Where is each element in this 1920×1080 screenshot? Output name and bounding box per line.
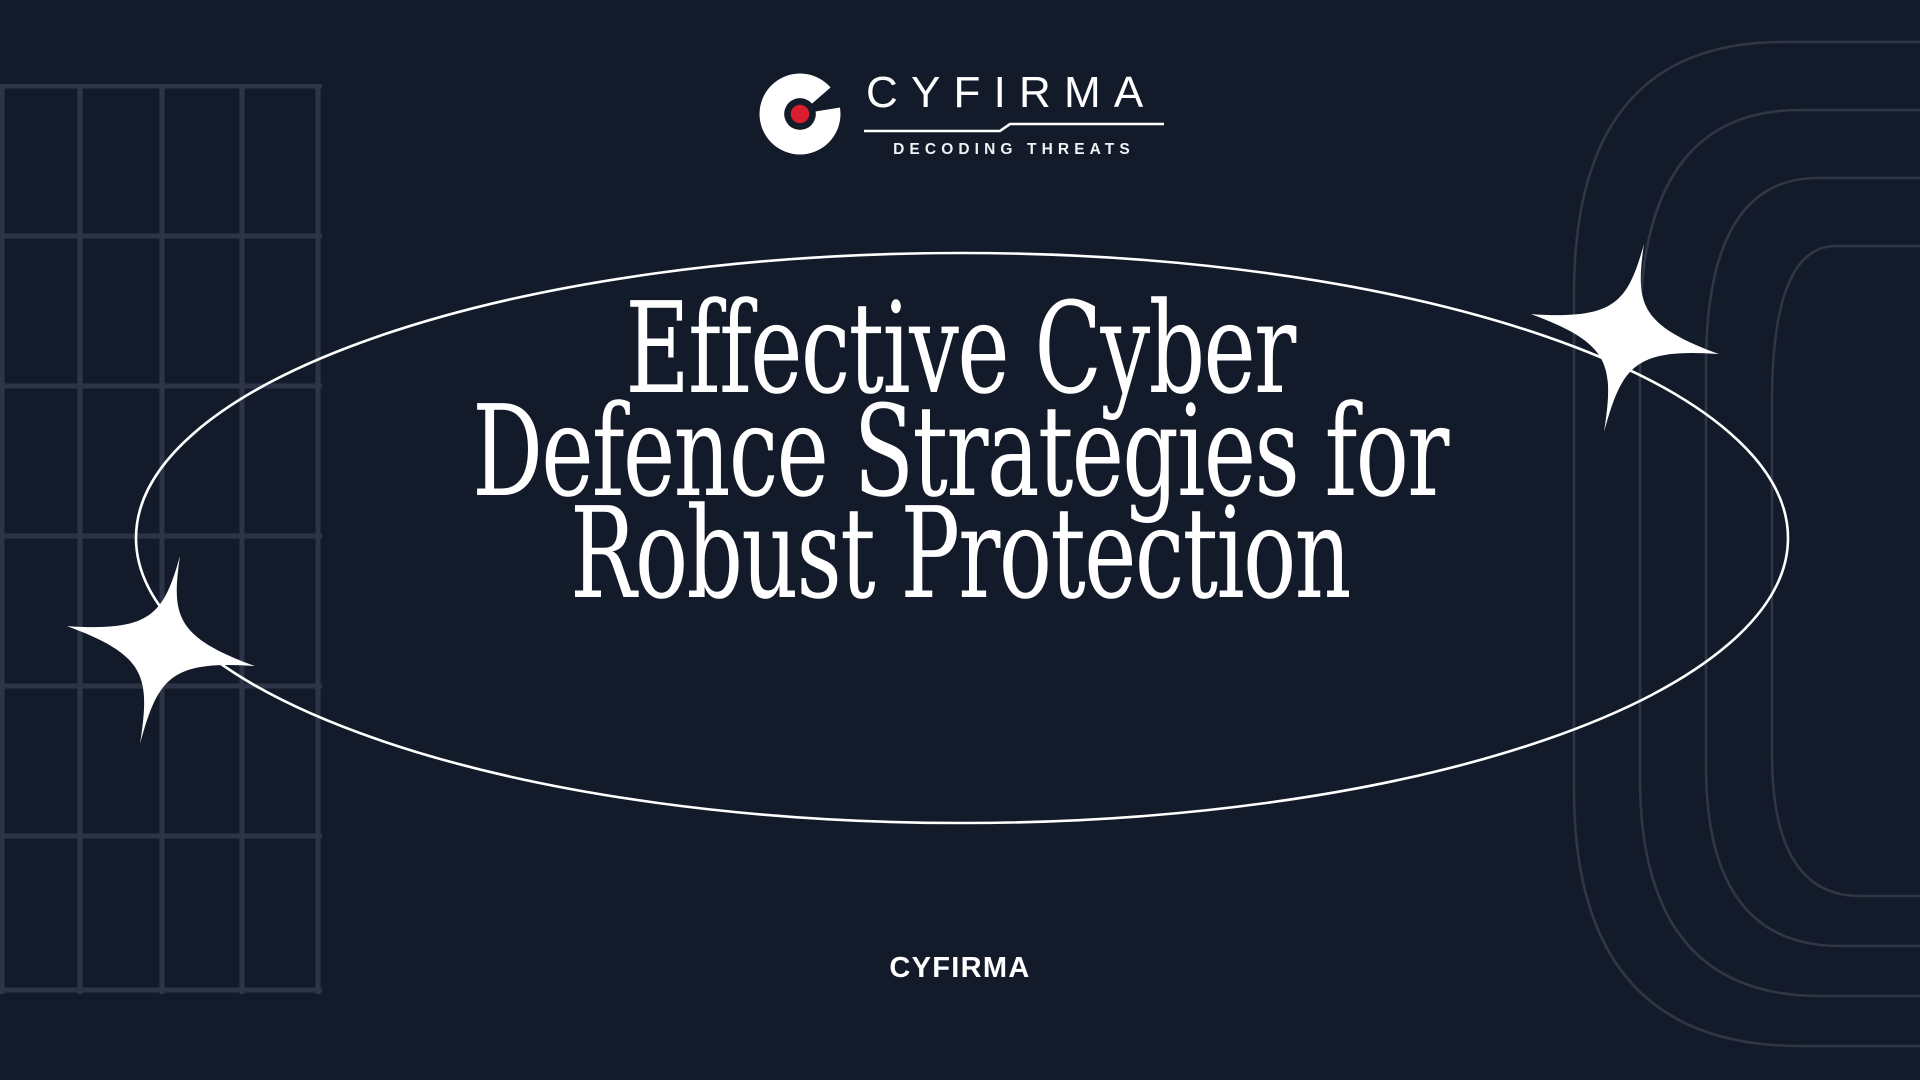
slide-canvas: CYFIRMA DECODING THREATS Effective Cyber… [0, 0, 1920, 1080]
footer-brand: CYFIRMA [0, 952, 1920, 985]
hero-section: Effective Cyber Defence Strategies for R… [0, 248, 1920, 828]
logo-wordmark: CYFIRMA DECODING THREATS [864, 71, 1164, 158]
radar-target-icon [756, 70, 844, 158]
notched-rule-icon [864, 122, 1164, 136]
page-title: Effective Cyber Defence Strategies for R… [288, 298, 1632, 606]
logo-name: CYFIRMA [864, 71, 1164, 115]
logo-tagline: DECODING THREATS [864, 142, 1164, 158]
four-point-sparkle-icon [60, 550, 260, 750]
brand-logo[interactable]: CYFIRMA DECODING THREATS [756, 70, 1164, 158]
